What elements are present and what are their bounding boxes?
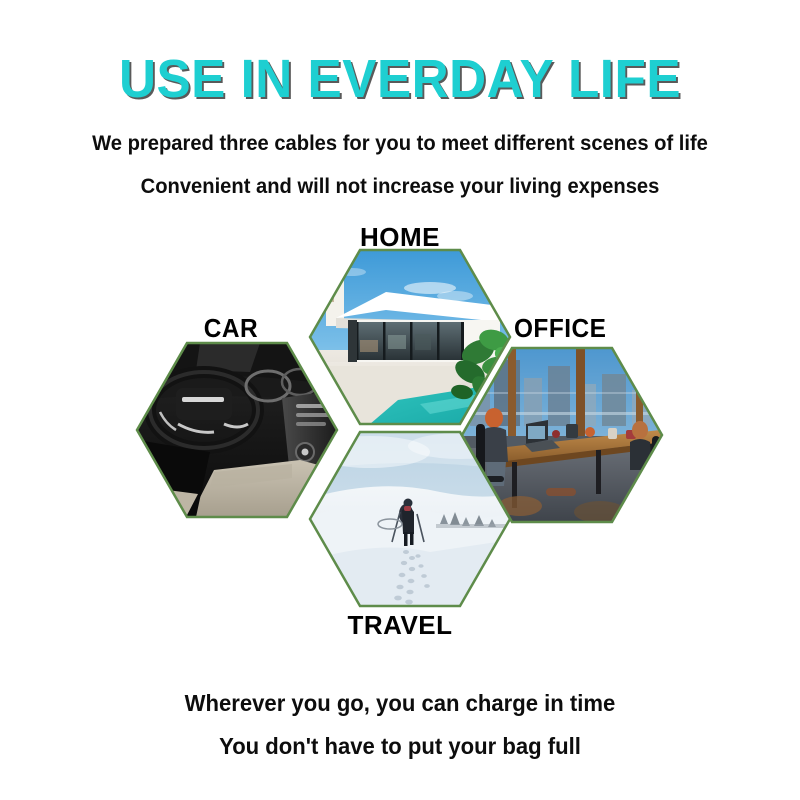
poster-canvas: USE IN EVERDAY LIFE We prepared three ca… (0, 0, 800, 800)
footer-line-2: You don't have to put your bag full (16, 733, 784, 760)
hex-label-car: CAR (204, 313, 258, 344)
hex-tile-car[interactable] (137, 343, 337, 517)
footer-line-1: Wherever you go, you can charge in time (16, 690, 784, 717)
hex-label-travel: TRAVEL (0, 610, 800, 641)
hexagon-cluster-svg (0, 0, 800, 800)
hexagon-cluster (0, 0, 800, 800)
hex-label-home: HOME (0, 222, 800, 253)
hex-label-office: OFFICE (514, 313, 606, 344)
